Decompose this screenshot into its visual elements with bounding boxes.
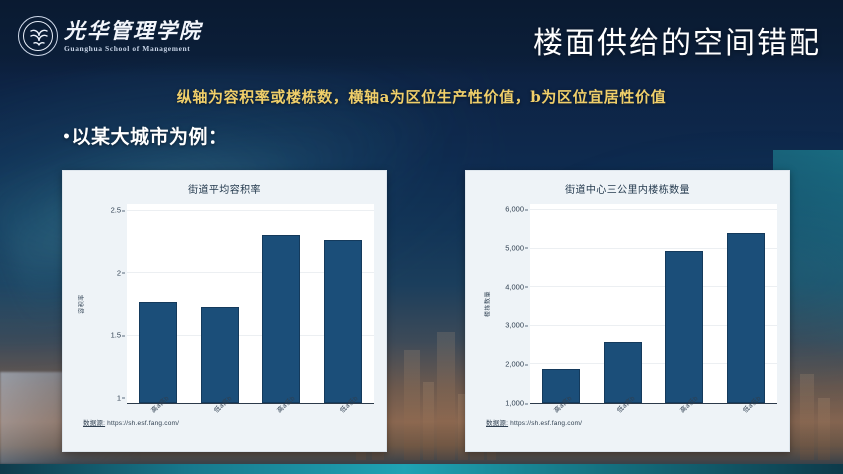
plot-area-right: 楼栋数量 6,000 5,000 4,000 3,000 2,000 1,000: [476, 204, 779, 404]
bottom-accent-strip: [0, 464, 843, 474]
y-tick: 1: [117, 393, 121, 402]
bar[interactable]: [604, 342, 642, 403]
y-tick: 5,000: [505, 243, 524, 252]
bar[interactable]: [324, 240, 362, 403]
y-tick: 6,000: [505, 205, 524, 214]
bullet-text: 以某大城市为例：: [71, 126, 227, 148]
slide-subtitle: 纵轴为容积率或楼栋数，横轴a为区位生产性价值，b为区位宜居性价值: [0, 86, 843, 107]
bar-group-left: [127, 204, 374, 403]
bar[interactable]: [201, 307, 239, 403]
y-tick: 2,000: [505, 360, 524, 369]
source-label: 数据源:: [83, 420, 105, 427]
logo-english-name: Guanghua School of Management: [64, 45, 202, 53]
plot-canvas-left: [127, 204, 374, 404]
page-title: 楼面供给的空间错配: [533, 18, 821, 62]
bullet-line: •以某大城市为例：: [62, 122, 227, 149]
source-note-left: 数据源: https://sh.esf.fang.com/: [83, 417, 179, 427]
peking-university-seal-icon: [18, 16, 58, 56]
bar[interactable]: [262, 235, 300, 403]
chart-title-right: 街道中心三公里内楼栋数量: [466, 171, 789, 196]
chart-title-left: 街道平均容积率: [63, 171, 386, 196]
source-url: https://sh.esf.fang.com/: [107, 420, 179, 427]
source-url: https://sh.esf.fang.com/: [510, 420, 582, 427]
source-note-right: 数据源: https://sh.esf.fang.com/: [486, 417, 582, 427]
plot-canvas-right: [530, 204, 777, 404]
y-tick: 4,000: [505, 282, 524, 291]
institution-logo: 光华管理学院 Guanghua School of Management: [18, 16, 202, 56]
bar[interactable]: [727, 233, 765, 403]
source-label: 数据源:: [486, 420, 508, 427]
y-tick: 3,000: [505, 321, 524, 330]
y-axis-ticks-left: 2.5 2 1.5 1: [81, 204, 125, 404]
bar[interactable]: [139, 302, 177, 403]
chart-panel-left: 街道平均容积率 容积率 2.5 2 1.5 1: [62, 170, 387, 452]
bar-group-right: [530, 204, 777, 403]
y-tick: 2.5: [111, 206, 121, 215]
chart-panel-right: 街道中心三公里内楼栋数量 楼栋数量 6,000 5,000 4,000 3,00…: [465, 170, 790, 452]
y-tick: 1.5: [111, 331, 121, 340]
logo-chinese-name: 光华管理学院: [64, 20, 202, 41]
bar[interactable]: [665, 251, 703, 403]
slide: 光华管理学院 Guanghua School of Management 楼面供…: [0, 0, 843, 474]
y-tick: 2: [117, 268, 121, 277]
plot-area-left: 容积率 2.5 2 1.5 1: [73, 204, 376, 404]
y-axis-ticks-right: 6,000 5,000 4,000 3,000 2,000 1,000: [484, 204, 528, 404]
y-tick: 1,000: [505, 399, 524, 408]
